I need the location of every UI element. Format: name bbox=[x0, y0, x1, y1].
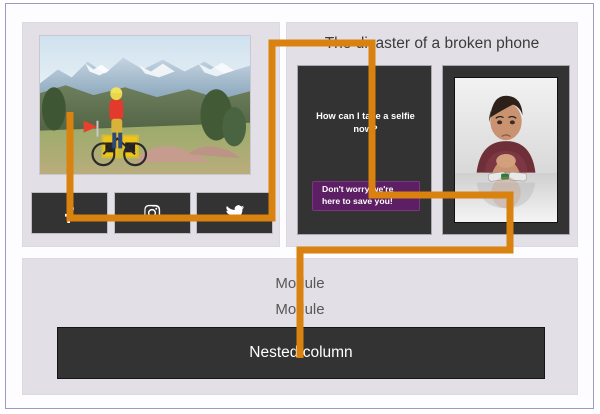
twitter-icon bbox=[225, 203, 245, 223]
screenshot-root: The disaster of a broken phone How can I… bbox=[0, 0, 600, 414]
social-tile-facebook[interactable] bbox=[31, 192, 108, 234]
portrait-image-frame bbox=[454, 77, 558, 223]
social-tile-instagram[interactable] bbox=[114, 192, 191, 234]
photo-cyclist-mountains-icon bbox=[40, 36, 250, 174]
portrait-card bbox=[442, 65, 570, 235]
social-tile-twitter[interactable] bbox=[196, 192, 273, 234]
cta-line-2: here to save you! bbox=[322, 196, 393, 208]
selfie-headline: How can I take a selfie now? bbox=[306, 110, 425, 137]
facebook-icon bbox=[60, 203, 80, 223]
cta-button[interactable]: Don't worry we're here to save you! bbox=[312, 181, 420, 211]
photo-worried-woman-broken-phone-icon bbox=[455, 78, 557, 222]
social-icon-row bbox=[31, 192, 273, 234]
bottom-row-panel: Module Module Nested column bbox=[22, 258, 578, 395]
hero-image-cyclist bbox=[39, 35, 251, 175]
left-column-panel bbox=[22, 22, 280, 247]
module-label-1: Module bbox=[23, 275, 577, 292]
cta-line-1: Don't worry we're bbox=[322, 184, 393, 196]
right-column-panel: The disaster of a broken phone How can I… bbox=[286, 22, 578, 247]
page-title: The disaster of a broken phone bbox=[287, 35, 577, 53]
nested-column-block: Nested column bbox=[57, 327, 545, 379]
module-label-2: Module bbox=[23, 301, 577, 318]
instagram-icon bbox=[142, 203, 162, 223]
message-card: How can I take a selfie now? Don't worry… bbox=[297, 65, 432, 235]
